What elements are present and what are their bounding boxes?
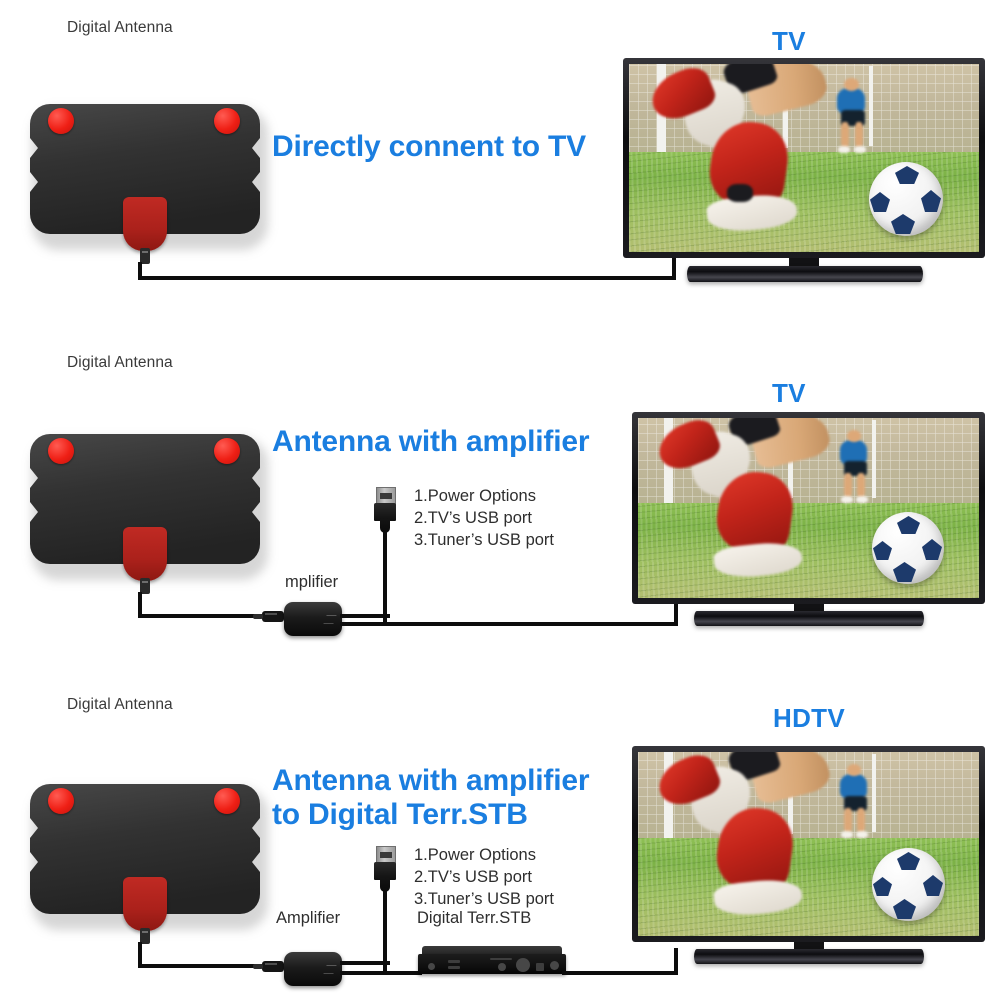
amplifier-to-usb-cable <box>340 614 390 618</box>
flat-antenna-icon <box>26 100 274 252</box>
antenna-knob-left <box>48 438 74 464</box>
antenna-to-amplifier-cable <box>138 964 270 968</box>
usb-option-1: 1.Power Options <box>414 486 554 508</box>
tv-picture-soccer <box>638 752 979 936</box>
usb-option-1: 1.Power Options <box>414 845 554 867</box>
section-headline: Antenna with amplifier to Digital Terr.S… <box>272 764 589 831</box>
antenna-knob-left <box>48 108 74 134</box>
diagram-section-antenna-with-amplifier: Digital Antenna Antenna with amplifier 1… <box>0 330 1000 680</box>
tv-stand-base <box>694 611 924 626</box>
antenna-knob-left <box>48 788 74 814</box>
antenna-knob-right <box>214 108 240 134</box>
flat-antenna-icon <box>26 780 274 932</box>
usb-option-3: 3.Tuner’s USB port <box>414 889 554 911</box>
digital-antenna-label: Digital Antenna <box>67 696 173 714</box>
antenna-connector-tab <box>123 197 167 251</box>
flat-antenna-icon <box>26 430 274 582</box>
amplifier-to-stb-cable <box>340 971 422 975</box>
digital-antenna-label: Digital Antenna <box>67 19 173 37</box>
soccer-ball-icon <box>872 848 945 921</box>
tv-screen <box>638 752 979 936</box>
tv-label: TV <box>772 26 806 57</box>
tv-stand-base <box>687 266 923 282</box>
usb-connector-icon <box>374 846 396 892</box>
soccer-ball-icon <box>869 162 943 236</box>
tv-screen <box>638 418 979 598</box>
tv-label: HDTV <box>773 703 845 734</box>
television-icon <box>632 412 985 617</box>
stb-to-tv-cable <box>562 971 678 975</box>
antenna-knob-right <box>214 788 240 814</box>
usb-option-3: 3.Tuner’s USB port <box>414 530 554 552</box>
usb-power-options-list: 1.Power Options 2.TV’s USB port 3.Tuner’… <box>414 486 554 551</box>
diagram-section-direct-to-tv: Digital Antenna Directly connent to TV T… <box>0 0 1000 330</box>
television-icon <box>623 58 985 273</box>
usb-cable-vertical <box>383 887 387 971</box>
section-headline: Antenna with amplifier <box>272 425 589 459</box>
amplifier-input-jack <box>262 961 284 972</box>
antenna-cable-horizontal <box>138 276 676 280</box>
usb-connector-icon <box>374 487 396 533</box>
amplifier-label: mplifier <box>285 573 338 592</box>
headline-line-1: Antenna with amplifier <box>272 764 589 798</box>
tv-label: TV <box>772 378 806 409</box>
antenna-connector-tab <box>123 527 167 581</box>
digital-antenna-label: Digital Antenna <box>67 354 173 372</box>
tv-picture-soccer <box>629 64 979 252</box>
amplifier-label: Amplifier <box>276 909 340 928</box>
amplifier-to-usb-cable <box>340 961 390 965</box>
antenna-connector-tab <box>123 877 167 931</box>
usb-option-2: 2.TV’s USB port <box>414 508 554 530</box>
section-headline: Directly connent to TV <box>272 130 586 164</box>
usb-power-options-list: 1.Power Options 2.TV’s USB port 3.Tuner’… <box>414 845 554 910</box>
antenna-knob-right <box>214 438 240 464</box>
tv-stand-base <box>694 949 924 964</box>
antenna-to-amplifier-cable <box>138 614 270 618</box>
television-icon <box>632 746 985 956</box>
amplifier-box-icon <box>284 602 342 636</box>
amplifier-box-icon <box>284 952 342 986</box>
diagram-section-amplifier-to-stb: Digital Antenna Antenna with amplifier t… <box>0 680 1000 1000</box>
set-top-box-icon <box>418 946 566 976</box>
soccer-ball-icon <box>872 512 944 584</box>
stb-label: Digital Terr.STB <box>417 909 531 928</box>
amplifier-input-jack <box>262 611 284 622</box>
headline-line-2: to Digital Terr.STB <box>272 798 589 832</box>
amplifier-to-tv-cable <box>340 622 678 626</box>
usb-cable-vertical <box>383 528 387 624</box>
usb-option-2: 2.TV’s USB port <box>414 867 554 889</box>
tv-screen <box>629 64 979 252</box>
tv-picture-soccer <box>638 418 979 598</box>
